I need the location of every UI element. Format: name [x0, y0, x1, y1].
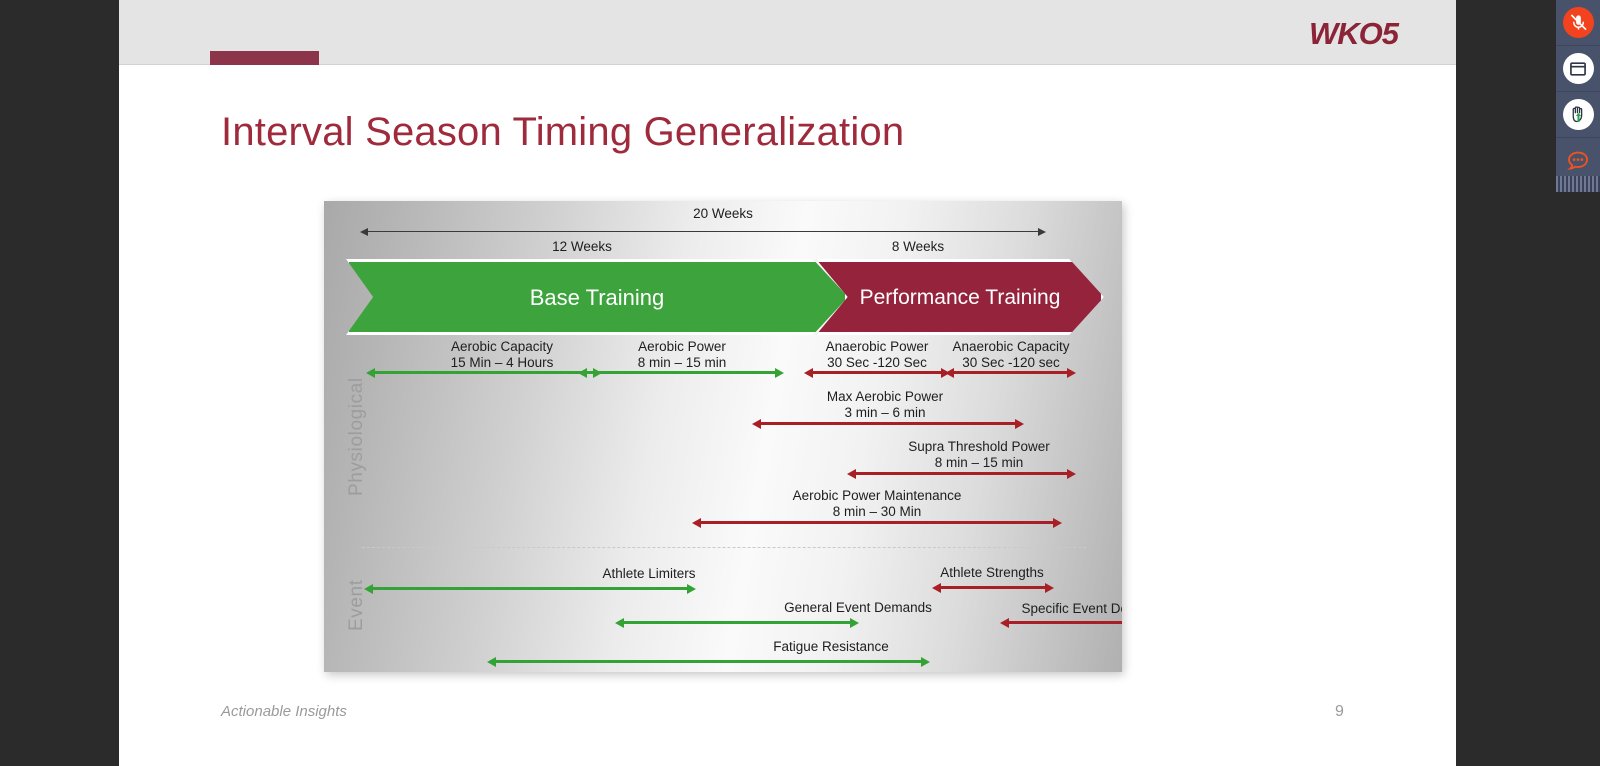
item-label-general-event-demands: General Event Demands — [784, 600, 932, 616]
presentation-slide: WKO5 Interval Season Timing Generalizati… — [119, 0, 1456, 766]
item-label-max-aerobic-power: Max Aerobic Power 3 min – 6 min — [827, 389, 943, 421]
arrow-anaerobic-power — [804, 371, 950, 374]
arrow-aerobic-power — [578, 371, 784, 374]
item-label-athlete-strengths: Athlete Strengths — [940, 565, 1044, 581]
phase-performance-training: Performance Training — [816, 259, 1104, 335]
item-label-anaerobic-capacity: Anaerobic Capacity 30 Sec -120 sec — [952, 339, 1069, 371]
arrow-max-aerobic-power — [752, 422, 1024, 425]
footer-note: Actionable Insights — [221, 703, 347, 720]
arrow-supra-threshold-power — [847, 472, 1076, 475]
window-icon — [1563, 53, 1594, 84]
group-label-physiological: Physiological — [346, 377, 368, 496]
arrow-aerobic-capacity — [366, 371, 602, 374]
mute-button[interactable] — [1556, 0, 1600, 46]
base-weeks-label: 12 Weeks — [552, 239, 612, 254]
mic-muted-icon — [1563, 7, 1594, 38]
phase-base-label: Base Training — [530, 286, 665, 309]
arrow-fatigue-resistance — [487, 660, 930, 663]
slide-header: WKO5 — [119, 0, 1456, 65]
hand-raise-icon — [1563, 99, 1594, 130]
meeting-toolbar — [1556, 0, 1600, 192]
item-label-specific-event-demands: Specific Event Demands — [1021, 601, 1122, 617]
item-label-athlete-limiters: Athlete Limiters — [602, 566, 695, 582]
wko5-logo: WKO5 — [1309, 16, 1398, 52]
item-label-aerobic-power: Aerobic Power 8 min – 15 min — [638, 339, 727, 371]
share-screen-button[interactable] — [1556, 46, 1600, 92]
toolbar-drag-handle[interactable] — [1556, 176, 1600, 192]
accent-bar — [210, 51, 319, 65]
item-label-fatigue-resistance: Fatigue Resistance — [773, 639, 889, 655]
season-timing-diagram: 20 Weeks 12 Weeks 8 Weeks Base Training … — [324, 201, 1122, 672]
raise-hand-button[interactable] — [1556, 92, 1600, 138]
total-weeks-label: 20 Weeks — [693, 206, 753, 221]
total-span-arrow — [367, 231, 1039, 232]
page-number: 9 — [1335, 703, 1344, 721]
arrow-athlete-limiters — [364, 587, 696, 590]
item-label-supra-threshold-power: Supra Threshold Power 8 min – 15 min — [908, 439, 1050, 471]
arrow-specific-event-demands — [1000, 621, 1122, 624]
letterbox-left — [0, 0, 119, 766]
arrow-athlete-strengths — [932, 586, 1054, 589]
arrow-general-event-demands — [615, 621, 859, 624]
arrow-aerobic-power-maintenance — [692, 521, 1062, 524]
item-label-aerobic-power-maintenance: Aerobic Power Maintenance 8 min – 30 Min — [793, 488, 962, 520]
chat-bubble-icon — [1563, 145, 1594, 176]
phase-performance-label: Performance Training — [860, 286, 1061, 309]
section-divider — [362, 547, 1086, 548]
item-label-anaerobic-power: Anaerobic Power 30 Sec -120 Sec — [826, 339, 929, 371]
page-title: Interval Season Timing Generalization — [221, 110, 904, 155]
performance-weeks-label: 8 Weeks — [892, 239, 944, 254]
phase-chevrons: Base Training Performance Training — [346, 259, 1104, 335]
phase-base-training: Base Training — [346, 259, 848, 335]
screen-root: WKO5 Interval Season Timing Generalizati… — [0, 0, 1600, 766]
item-label-aerobic-capacity: Aerobic Capacity 15 Min – 4 Hours — [451, 339, 554, 371]
arrow-anaerobic-capacity — [945, 371, 1076, 374]
